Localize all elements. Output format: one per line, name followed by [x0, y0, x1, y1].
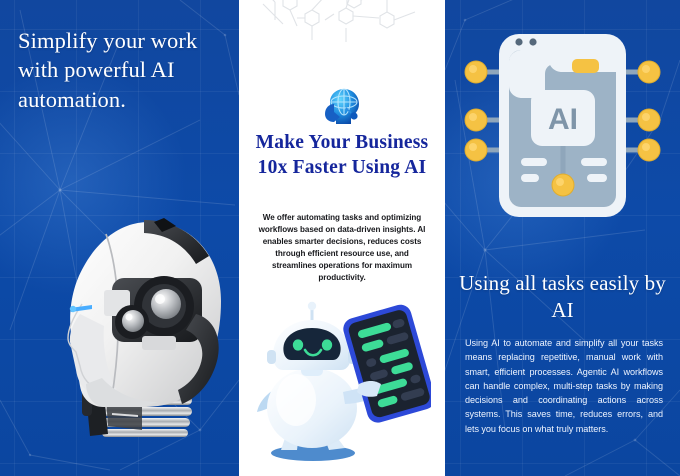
middle-panel: Make Your Business 10x Faster Using AI W…	[239, 0, 445, 476]
middle-panel-body: We offer automating tasks and optimizing…	[253, 212, 431, 284]
left-panel-heading: Simplify your work with powerful AI auto…	[18, 26, 224, 114]
hex-network-pattern	[239, 0, 445, 72]
right-panel-heading: Using all tasks easily by AI	[459, 270, 666, 325]
chip-ai-label: AI	[548, 103, 578, 136]
right-panel: AI	[445, 0, 680, 476]
middle-panel-title: Make Your Business 10x Faster Using AI	[247, 131, 437, 180]
brochure-canvas: Simplify your work with powerful AI auto…	[0, 0, 680, 476]
robot-holding-tablet-image	[251, 300, 431, 468]
ai-chip-circuit-image: AI	[459, 28, 666, 223]
left-panel: Simplify your work with powerful AI auto…	[0, 0, 239, 476]
ai-head-globe-icon	[320, 86, 364, 128]
robot-head-profile-image	[46, 218, 231, 454]
right-panel-body: Using AI to automate and simplify all yo…	[465, 336, 663, 436]
